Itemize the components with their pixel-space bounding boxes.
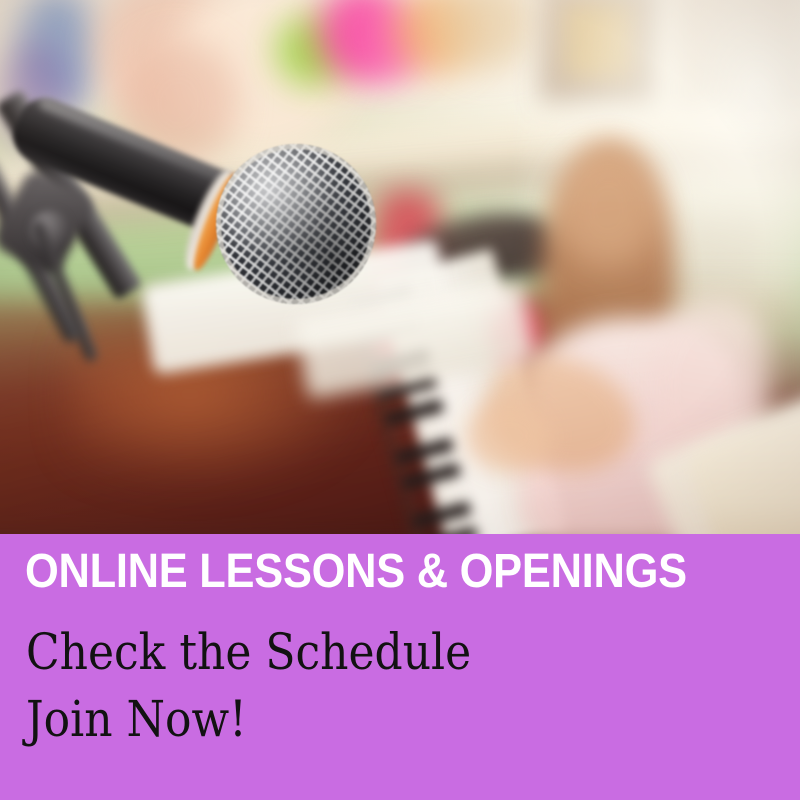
microphone-stand-arm	[0, 90, 143, 301]
piano-black-key	[419, 526, 478, 534]
wooden-surface	[0, 300, 580, 534]
room-wall-background	[0, 0, 800, 534]
girl-shoulder	[650, 300, 770, 450]
microphone-collar	[177, 165, 243, 276]
photo-warm-tone	[0, 0, 800, 534]
piano-black-key	[385, 399, 444, 427]
piano-black-key	[412, 501, 471, 529]
banner-headline: ONLINE LESSONS & OPENINGS	[25, 548, 708, 596]
piano-keyboard	[376, 230, 635, 534]
piano-black-key	[354, 285, 413, 313]
girl-hand	[466, 400, 552, 472]
shelf-toy-tan-icon	[440, 0, 536, 70]
shelf-toy-orange-icon	[392, 0, 480, 74]
wall-picture-frame-1-art	[566, 4, 632, 78]
microphone-stand-arm-2	[0, 158, 87, 345]
wall-picture-frame-3	[648, 150, 798, 320]
shelf-toy-blue-icon	[20, 0, 98, 108]
piano-black-key	[378, 374, 437, 402]
sheet-music-3	[645, 387, 800, 534]
microphone-mesh-shading	[216, 144, 376, 304]
microphone-body	[6, 90, 271, 249]
piano-white-keys	[376, 248, 567, 534]
girl-dress	[520, 318, 750, 534]
hero-photo	[0, 0, 800, 534]
microphone-grille-head	[216, 144, 376, 304]
shelf-toy-pink2-icon	[356, 6, 428, 80]
piano-black-key	[361, 310, 420, 338]
girl-hair	[540, 140, 676, 400]
photo-vignette	[0, 0, 800, 534]
sheet-music-1	[141, 239, 451, 375]
banner-line-join-now: Join Now!	[26, 694, 247, 744]
microphone	[0, 60, 420, 360]
pink-object	[490, 300, 548, 362]
red-object	[372, 190, 444, 370]
shelf-toy-green-icon	[276, 14, 351, 86]
piano-lid	[395, 201, 565, 300]
piano-black-key	[371, 349, 430, 377]
microphone-mesh-pattern	[216, 144, 376, 304]
microphone-orange-ring	[187, 170, 244, 274]
shelf-toy-pink-icon	[318, 0, 404, 80]
piano-black-key	[395, 437, 454, 465]
microphone-stand-knob	[30, 210, 70, 250]
shelf-toy-skin-icon	[118, 38, 238, 168]
wooden-surface-highlight	[70, 330, 370, 490]
microphone-grille-rim	[216, 144, 376, 304]
desk-surface	[683, 393, 800, 534]
shelf-shadow	[0, 143, 800, 249]
window-light-glow	[520, 0, 800, 390]
wall-picture-frame-1	[540, 0, 658, 102]
girl-arm	[473, 340, 650, 491]
piano-key-edge	[343, 284, 435, 534]
wooden-surface-right	[520, 300, 800, 534]
piano-black-key	[402, 462, 461, 490]
girl-head	[556, 148, 660, 268]
shelf	[0, 85, 800, 229]
banner-line-check-the-schedule: Check the Schedule	[26, 627, 471, 677]
microphone-clip	[0, 166, 96, 278]
wall-picture-frame-3-art	[672, 212, 764, 308]
promo-card: ONLINE LESSONS & OPENINGS Check the Sche…	[0, 0, 800, 800]
shelf-toy-peach-icon	[95, 0, 245, 124]
microphone-cable	[31, 219, 98, 363]
wall-picture-frame-2	[676, 0, 800, 106]
shelf-toy-cream-icon	[170, 0, 355, 155]
sheet-music-2	[295, 281, 535, 400]
microphone-body-highlight	[38, 96, 237, 187]
shelf-toy-purple-icon	[0, 40, 70, 150]
